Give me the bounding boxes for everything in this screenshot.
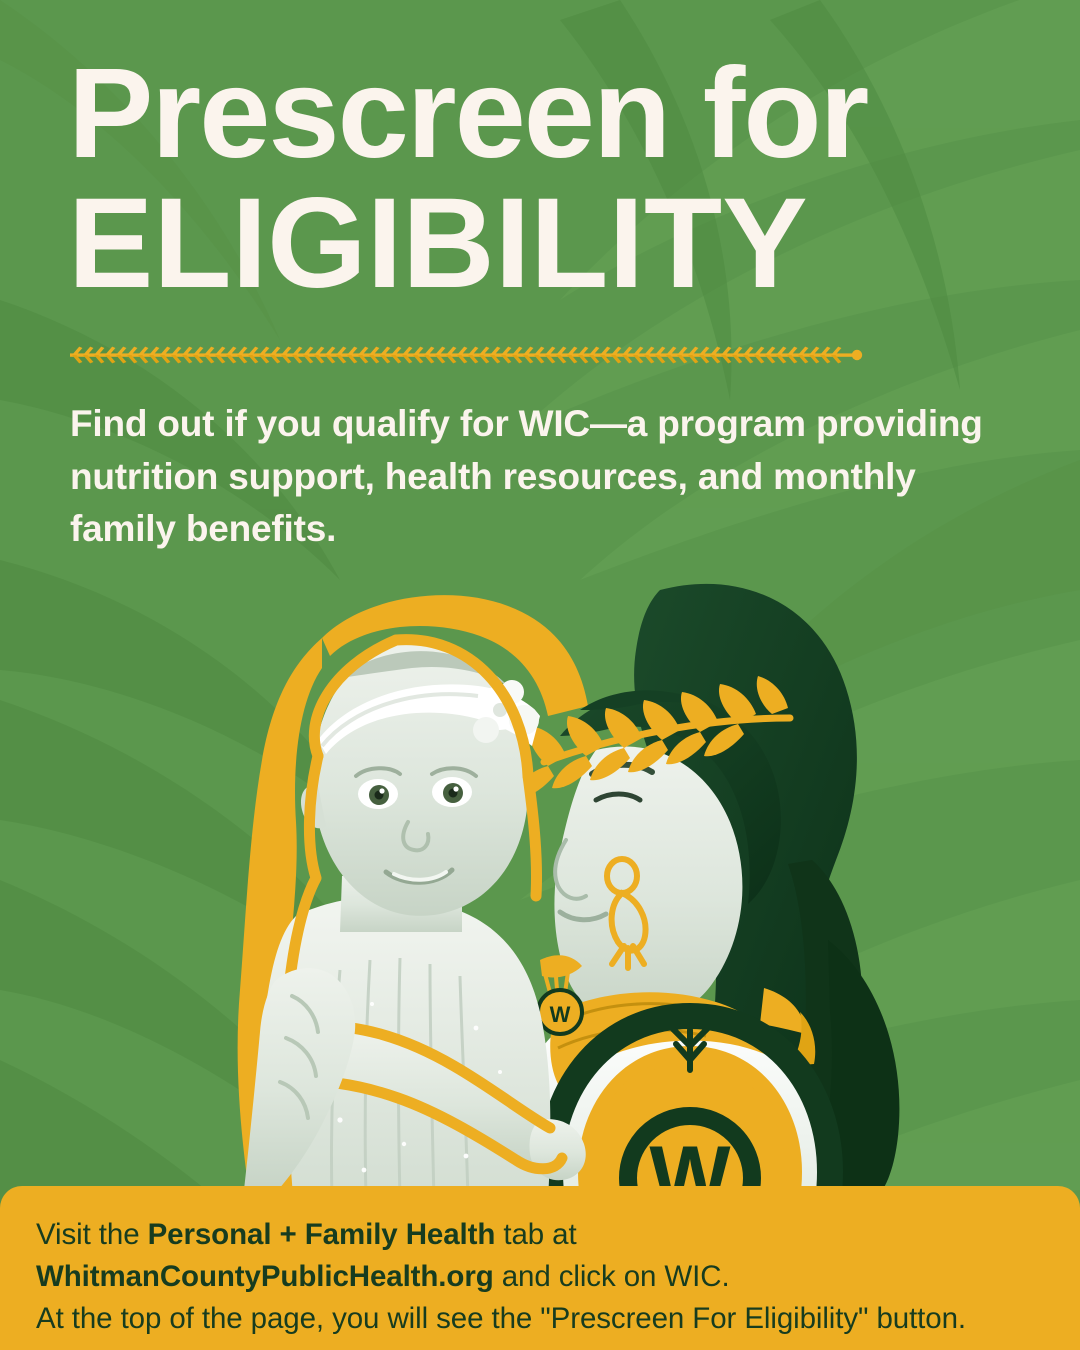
page-title-line-1: Prescreen for xyxy=(68,52,1012,176)
wheat-stalk-divider-icon xyxy=(70,344,865,366)
poster-header: Prescreen for ELIGIBILITY xyxy=(68,52,1012,308)
banner-line1-bold: Personal + Family Health xyxy=(148,1218,496,1251)
poster-canvas: Prescreen for ELIGIBILITY xyxy=(0,0,1080,1350)
banner-line1-prefix: Visit the xyxy=(36,1218,148,1251)
banner-line-3: At the top of the page, you will see the… xyxy=(36,1298,1044,1340)
mother-and-baby-illustration: W W xyxy=(0,560,1080,1200)
page-title-line-2: ELIGIBILITY xyxy=(68,180,1012,308)
w-medal-letter: W xyxy=(550,1002,571,1027)
banner-line1-suffix: tab at xyxy=(495,1218,576,1251)
w-medal-icon: W xyxy=(538,955,582,1034)
banner-line2-suffix: and click on WIC. xyxy=(494,1260,730,1293)
website-link[interactable]: WhitmanCountyPublicHealth.org xyxy=(36,1260,494,1293)
mother-and-baby-photo: W W xyxy=(0,560,1080,1200)
poster-subtitle: Find out if you qualify for WIC—a progra… xyxy=(70,398,1030,556)
instructions-banner: Visit the Personal + Family Health tab a… xyxy=(0,1186,1080,1350)
banner-line-2: WhitmanCountyPublicHealth.org and click … xyxy=(36,1256,1044,1298)
banner-line-1: Visit the Personal + Family Health tab a… xyxy=(36,1214,1044,1256)
